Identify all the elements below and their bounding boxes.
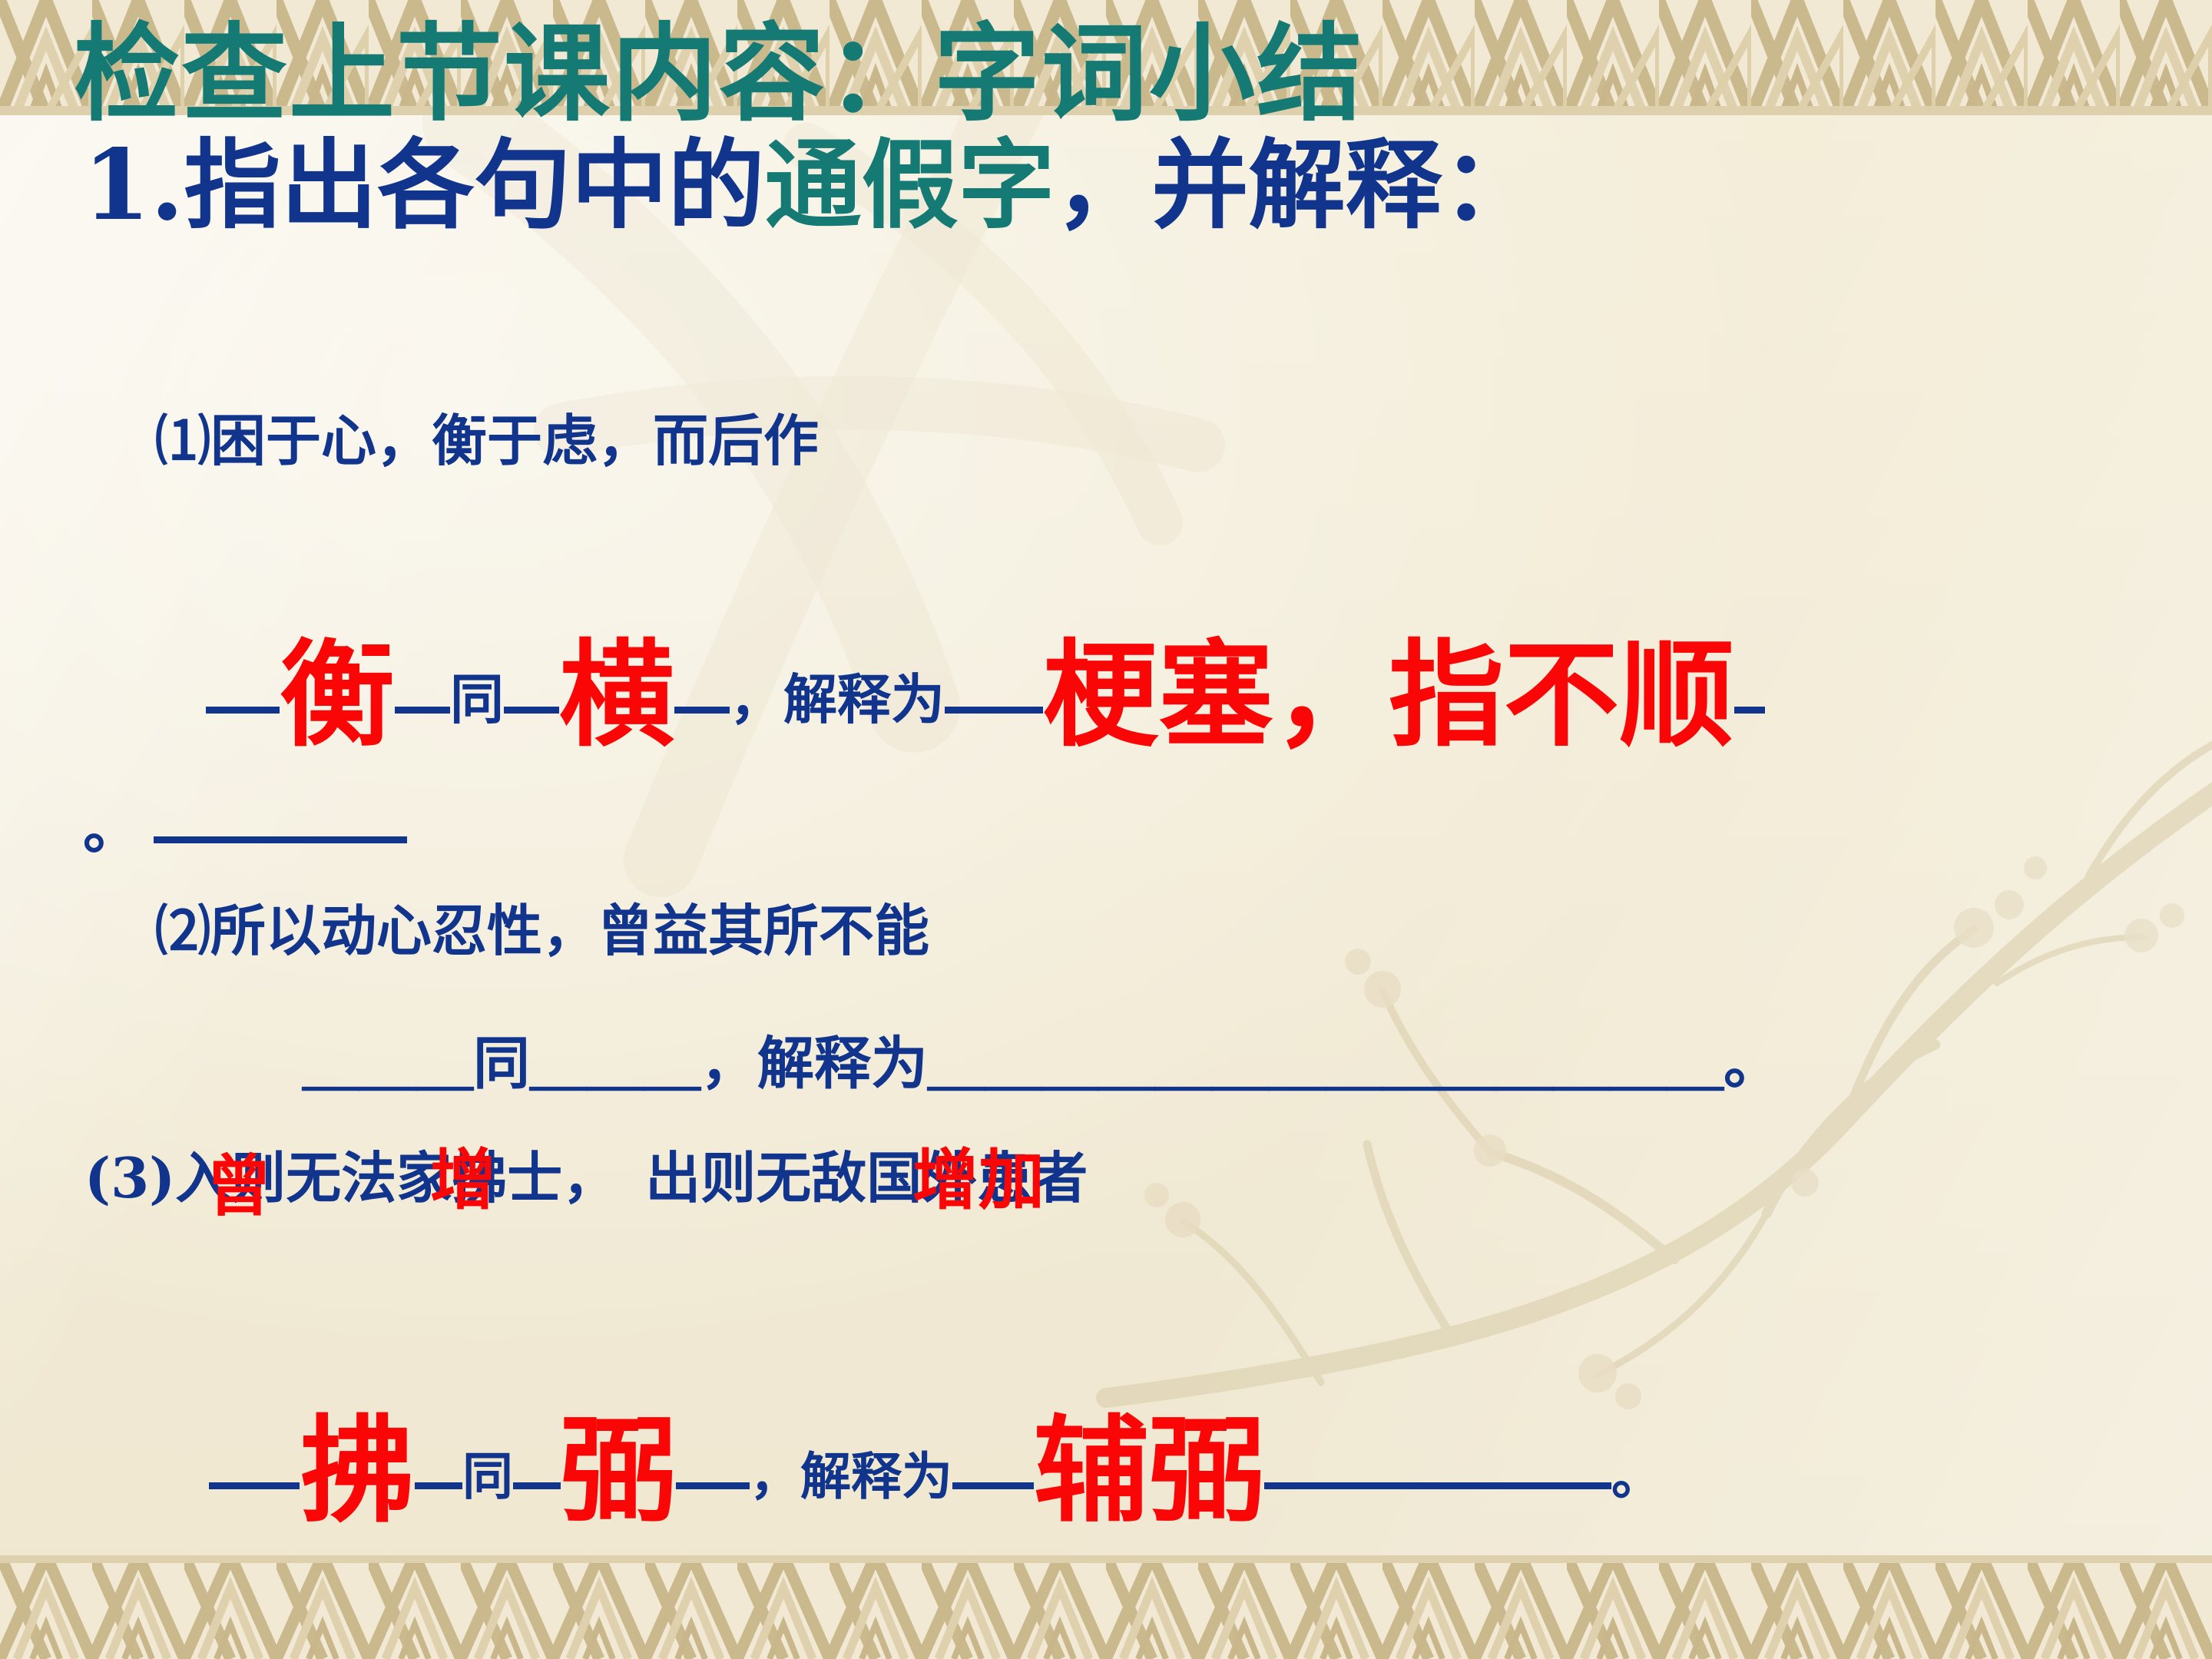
q1-filled-word: 衡 (280, 628, 395, 763)
blank-rule (945, 707, 1043, 714)
question-1-answer-tail: 。 (83, 800, 407, 857)
annotation-zengjia: 增加 (912, 1126, 1045, 1222)
blank-rule (154, 836, 407, 843)
question-2-stem: ⑵所以动心忍性，曾益其所不能 (155, 903, 929, 959)
blank-rule (674, 707, 730, 714)
q3-period: 。 (1611, 1446, 1662, 1506)
question-2-answer: ＿＿＿同＿＿＿，解释为＿＿＿＿＿＿＿＿＿＿＿＿＿＿。 (303, 1035, 1780, 1092)
blank-rule (209, 1482, 300, 1489)
annotation-zeng-increase: 增 (430, 1126, 496, 1222)
subtitle-part-3: ，并解释： (1055, 128, 1539, 242)
blank-rule (395, 707, 450, 714)
page-title: 检查上节课内容：字词小结 (74, 22, 1364, 127)
subtitle-part-highlight: 通假字 (765, 128, 1055, 242)
blank-rule (952, 1482, 1034, 1489)
q3-filled-word: 拂 (300, 1403, 415, 1538)
q3-same-label: 同 (462, 1446, 513, 1506)
ornament-band-bottom (0, 1555, 2212, 1659)
q1-same-label: 同 (450, 667, 504, 731)
annotation-zeng: 曾 (206, 1132, 272, 1228)
blank-rule (1734, 707, 1765, 714)
q1-comma: ， (730, 667, 783, 731)
blank-rule (504, 707, 559, 714)
q3-same-as: 弼 (561, 1403, 676, 1538)
page-title-text: 检查上节课内容：字词小结 (74, 12, 1364, 136)
blank-rule (513, 1482, 561, 1489)
q3-stem-left: (3)入则无法家拂士， (84, 1145, 618, 1210)
blank-rule (415, 1482, 462, 1489)
subtitle-part-1: 1.指出各句中的 (83, 128, 765, 242)
q3-explain-label: 解释为 (800, 1446, 952, 1506)
subtitle: 1.指出各句中的通假字，并解释： (83, 137, 1539, 233)
question-1-stem: ⑴困于心，衡于虑，而后作 (155, 413, 819, 469)
blank-rule (206, 707, 280, 714)
q3-explanation: 辅弼 (1034, 1403, 1264, 1538)
q1-period: 。 (83, 796, 140, 862)
q1-explanation: 梗塞，指不顺 (1043, 628, 1734, 763)
question-3-answer: 拂同弼，解释为辅弼。 (209, 1413, 1662, 1528)
blank-rule (1264, 1482, 1611, 1489)
blank-rule (676, 1482, 750, 1489)
q1-explain-label: 解释为 (783, 667, 945, 731)
question-1-answer: 衡同横，解释为梗塞，指不顺 (206, 637, 1765, 753)
q1-same-as: 横 (559, 628, 674, 763)
q3-comma: ， (750, 1446, 800, 1506)
slide-canvas: 检查上节课内容：字词小结 1.指出各句中的通假字，并解释： ⑴困于心，衡于虑，而… (0, 0, 2212, 1659)
